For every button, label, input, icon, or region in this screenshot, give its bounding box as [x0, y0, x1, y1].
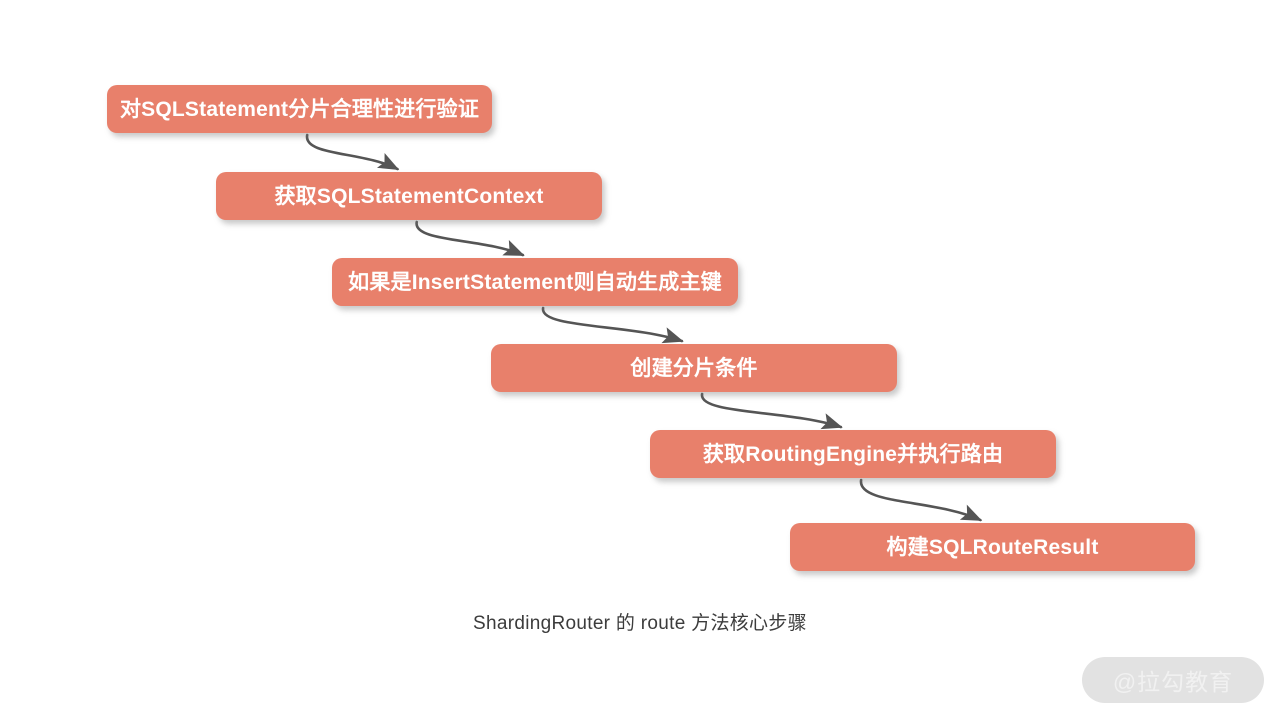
flow-step-label-5: 获取RoutingEngine并执行路由: [689, 444, 1017, 465]
flow-step-box-5: 获取RoutingEngine并执行路由: [650, 430, 1056, 478]
arrow-step4-to-step5: [702, 394, 841, 427]
flow-step-box-4: 创建分片条件: [491, 344, 897, 392]
flow-step-box-2: 获取SQLStatementContext: [216, 172, 602, 220]
arrow-step3-to-step4: [543, 308, 682, 341]
arrow-step1-to-step2: [307, 135, 397, 169]
flow-step-box-1: 对SQLStatement分片合理性进行验证: [107, 85, 492, 133]
watermark-label: @拉勾教育: [1113, 663, 1233, 697]
flow-step-label-4: 创建分片条件: [616, 358, 771, 379]
diagram-canvas: 对SQLStatement分片合理性进行验证获取SQLStatementCont…: [0, 0, 1280, 720]
flow-step-label-3: 如果是InsertStatement则自动生成主键: [334, 272, 736, 293]
arrow-step2-to-step3: [417, 222, 523, 255]
arrow-step5-to-step6: [861, 480, 980, 520]
flow-step-label-6: 构建SQLRouteResult: [872, 537, 1112, 558]
flow-step-label-2: 获取SQLStatementContext: [260, 186, 557, 207]
flow-step-box-3: 如果是InsertStatement则自动生成主键: [332, 258, 738, 306]
diagram-caption: ShardingRouter 的 route 方法核心步骤: [0, 608, 1280, 635]
flow-step-box-6: 构建SQLRouteResult: [790, 523, 1195, 571]
flow-step-label-1: 对SQLStatement分片合理性进行验证: [106, 99, 493, 120]
watermark-badge: @拉勾教育: [1082, 657, 1264, 703]
